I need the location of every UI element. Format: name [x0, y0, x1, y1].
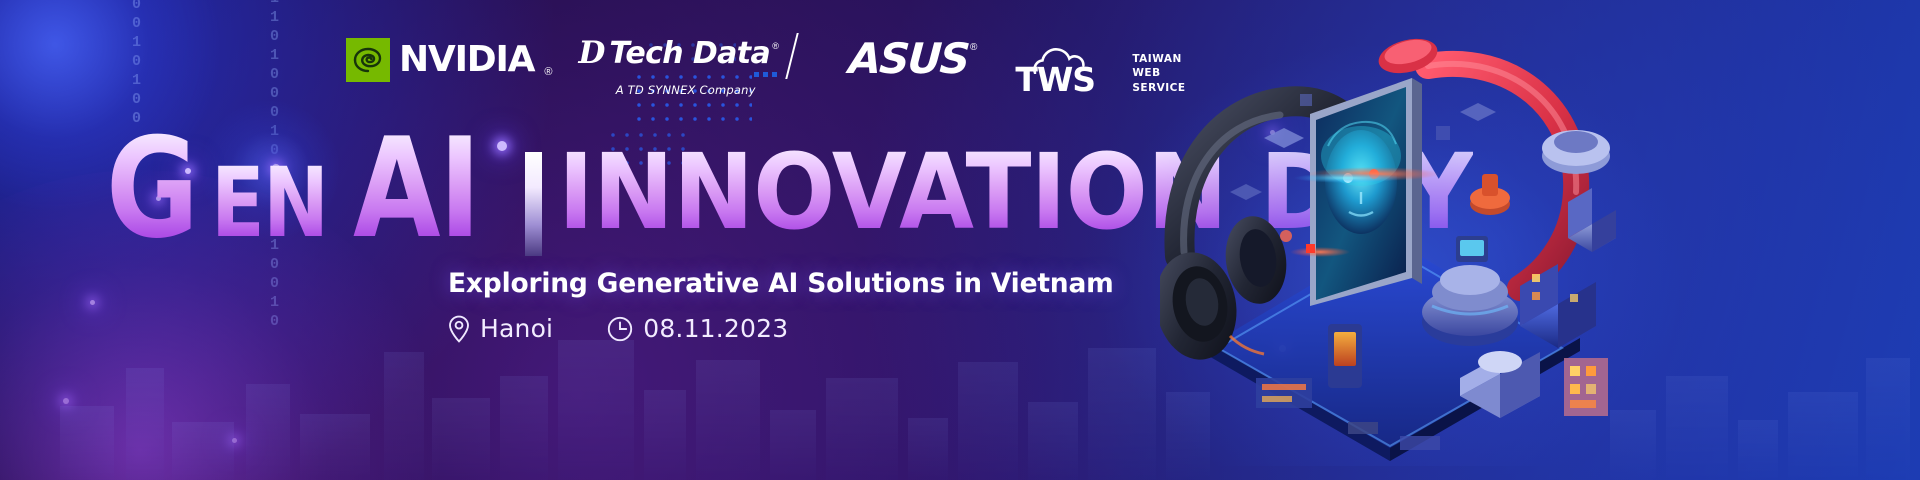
nvidia-trademark: ®	[544, 66, 552, 78]
tech-data-slash-decor	[785, 33, 798, 79]
asus-wordmark: ASUS	[847, 38, 969, 80]
event-date-label: 08.11.2023	[643, 314, 788, 343]
partner-logo-row: NVIDIA ® D Tech Data ® A TD SYNNEX Compa…	[346, 38, 1186, 97]
location-pin-icon	[448, 315, 470, 343]
headline-divider-bar	[525, 152, 542, 256]
event-location-label: Hanoi	[480, 314, 553, 343]
nvidia-wordmark: NVIDIA	[399, 42, 534, 78]
tech-data-registered-mark: ®	[772, 41, 779, 51]
tech-data-tagline: A TD SYNNEX Company	[616, 83, 756, 97]
logo-nvidia[interactable]: NVIDIA ®	[346, 38, 552, 82]
nvidia-eye-icon	[346, 38, 390, 82]
asus-registered-mark: ®	[970, 42, 977, 53]
city-skyline-decor	[0, 270, 1250, 480]
event-location: Hanoi	[448, 314, 553, 343]
genai-lead-letter: G	[106, 132, 197, 245]
genai-tail-letters: AI	[353, 132, 479, 245]
ai-tech-illustration	[1160, 6, 1620, 476]
logo-tech-data[interactable]: D Tech Data ® A TD SYNNEX Company	[578, 38, 792, 97]
tws-wordmark: TWS	[1015, 63, 1095, 96]
clock-icon	[607, 316, 633, 342]
event-date: 08.11.2023	[607, 314, 788, 343]
genai-small-caps: EN	[211, 164, 327, 243]
tech-data-dots-decor	[754, 72, 777, 77]
event-banner: 0010100 110100010100110010 1001001110001…	[0, 0, 1920, 480]
genai-logotype: G EN AI	[106, 132, 507, 245]
event-meta-row: Hanoi 08.11.2023	[448, 314, 788, 343]
tech-data-monogram: D	[578, 38, 604, 69]
event-subtitle: Exploring Generative AI Solutions in Vie…	[448, 268, 1114, 299]
logo-asus[interactable]: ASUS ®	[849, 38, 977, 80]
tech-data-wordmark: Tech Data	[609, 39, 770, 69]
